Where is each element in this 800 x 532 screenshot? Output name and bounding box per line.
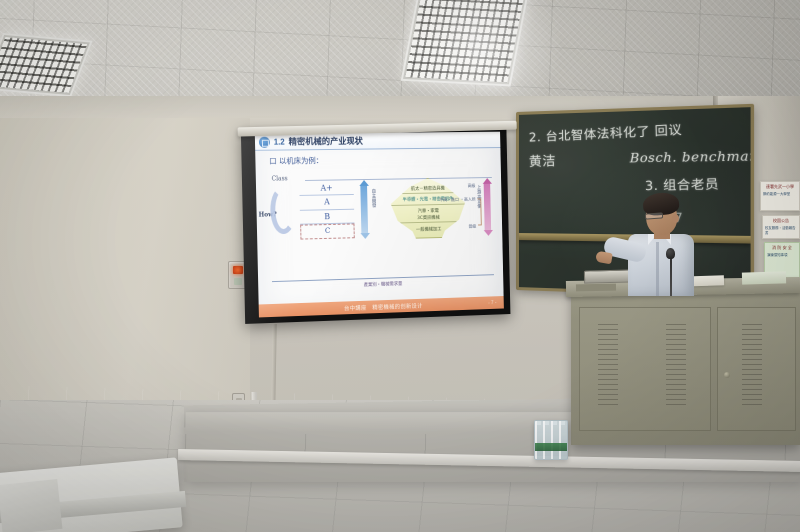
poster-body: 校友服務・活動報告書 (765, 226, 797, 236)
lock-icon[interactable] (724, 372, 730, 378)
poster-title: 消 防 安 全 (767, 245, 797, 251)
board-line: 黄洁 (529, 150, 556, 170)
class-ladder: A+ A B C (299, 181, 355, 239)
student-desk[interactable] (0, 479, 62, 532)
classroom-photo-scene: 2. 台北智体法科化了 回议 黄洁 Bosch. benchmarking 3.… (0, 0, 800, 532)
microphone-stand (670, 254, 672, 296)
class-cell: A (300, 195, 355, 210)
wall-poster: 連署先武一小學 節約能源一大學堂 (760, 181, 800, 211)
vase-row-label: 航太－精密造具機 (388, 185, 467, 192)
footer-text: 台中講座 精密機械的创新设计 (344, 301, 423, 312)
projector-screen[interactable]: 1.2 精密机械的产业现状 口 以机床为例： Class How? A+ A B… (241, 127, 511, 324)
av-equipment-cabinet[interactable] (571, 285, 800, 445)
bottle-label-band (535, 443, 567, 451)
diagram-axis-label: Class (272, 175, 288, 182)
arrow-head-down-icon (360, 233, 370, 239)
vase-divider (388, 203, 467, 206)
vase-row-label: 一般機械加工 (389, 226, 468, 234)
arrow-head-down-icon (483, 230, 492, 236)
poster-body: 演練須知事項 (767, 253, 797, 258)
diagram-side-note: 中高・進口 ・高入所 (439, 197, 475, 203)
arrow-caption: 自主開發 (370, 189, 376, 208)
bracket-icon (478, 198, 482, 225)
poster-title: 連署先武一小學 (763, 184, 797, 190)
curved-arrow-icon (270, 186, 297, 234)
bottle-ribs (535, 421, 567, 459)
presenter (600, 196, 728, 296)
status-led-icon (233, 266, 243, 274)
industry-pyramid-shape: 航太－精密造具機 半導體・光電・精密零組件 汽車・家電 3C資訊機械 一般機械加… (387, 177, 469, 239)
class-cell: B (300, 209, 355, 224)
diagram-top-line (305, 177, 492, 181)
arrow-shaft (484, 184, 491, 230)
slide-title: 精密机械的产业现状 (288, 135, 362, 148)
vent-slots (666, 324, 686, 408)
board-line: Bosch. benchmarking (630, 148, 751, 166)
wall-poster: 校園公告 校友服務・活動報告書 (762, 215, 800, 239)
diagram-side-note: 高級 (468, 183, 476, 189)
page-number: - 7 - (488, 300, 496, 306)
presenter-ear (672, 214, 679, 223)
class-cell: A+ (299, 181, 354, 196)
light-louvers (405, 0, 524, 82)
glasses-icon (645, 212, 663, 219)
slide-badge-icon (259, 136, 270, 147)
shirt-placket (656, 242, 659, 296)
board-line: 3. 组合老员 (645, 174, 720, 194)
light-louvers (0, 37, 87, 93)
vent-slots (598, 324, 618, 408)
slide-section-number: 1.2 (274, 137, 285, 146)
poster-title: 校園公告 (765, 218, 797, 224)
papers-stack (742, 271, 786, 284)
bottled-water-pack[interactable] (534, 420, 568, 460)
presentation-slide: 1.2 精密机械的产业现状 口 以机床为例： Class How? A+ A B… (255, 132, 504, 318)
slide-diagram: Class How? A+ A B C 自主開發 (256, 163, 504, 304)
ceiling-light-icon (401, 0, 530, 86)
up-down-arrow-icon (484, 178, 492, 236)
switch-button[interactable] (234, 278, 242, 285)
diagram-side-note: 普級 (468, 224, 476, 230)
up-down-arrow-icon (360, 180, 368, 239)
vent-slots (742, 324, 762, 408)
poster-body: 節約能源一大學堂 (763, 192, 797, 197)
vase-divider (388, 192, 467, 194)
cabinet-door-right[interactable] (717, 307, 796, 431)
arrow-shaft (360, 186, 368, 233)
microphone-icon[interactable] (666, 248, 675, 259)
bottle-caps (537, 420, 565, 425)
cabinet-door-left[interactable] (579, 307, 711, 431)
class-cell: C (300, 223, 355, 239)
